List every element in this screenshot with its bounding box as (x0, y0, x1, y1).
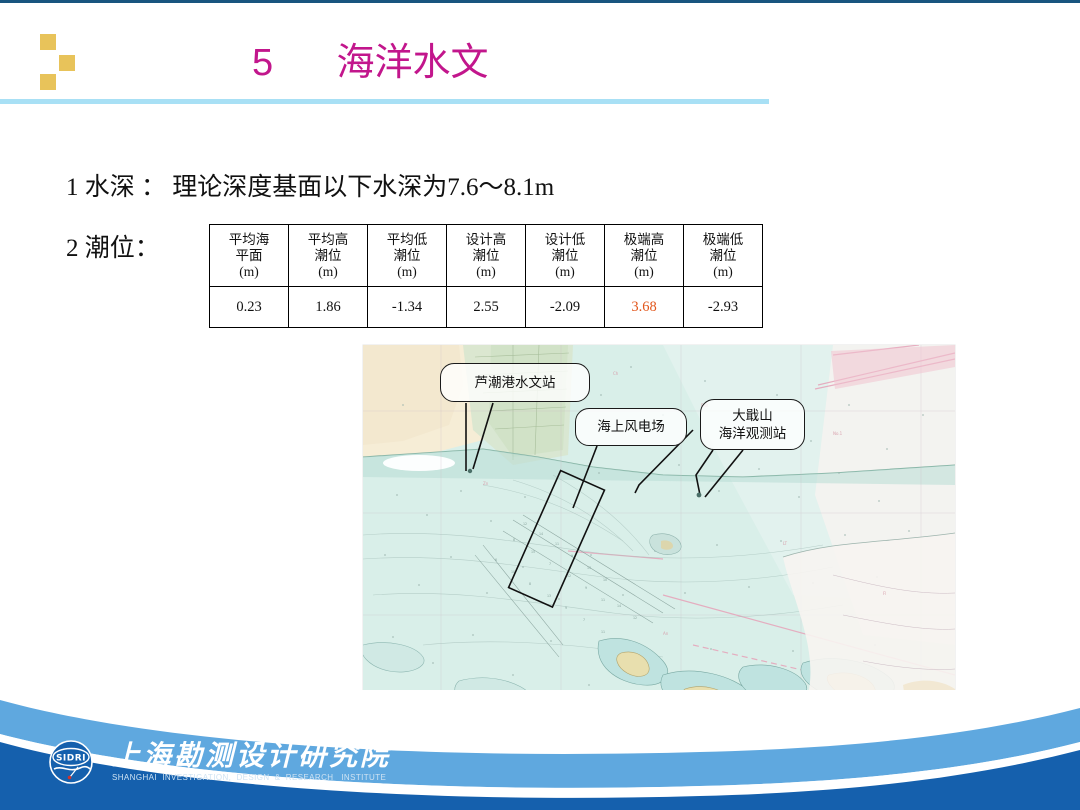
table-header-cell: 平均海 平面 (m) (210, 225, 289, 287)
company-logo: SIDRI 上海勘测设计研究院 SHANGHAI INVESTIGATION, … (40, 740, 391, 784)
header-line: 潮位 (605, 248, 683, 264)
svg-text:No.1: No.1 (833, 431, 843, 436)
svg-text:9: 9 (585, 586, 587, 590)
page-title: 5 海洋水文 (252, 40, 488, 86)
svg-text:Fl: Fl (883, 591, 886, 596)
svg-text:10: 10 (603, 578, 607, 582)
deco-square-2 (59, 55, 75, 71)
svg-text:9: 9 (571, 554, 573, 558)
tide-level-label: 2 潮位： (66, 233, 160, 265)
deco-square-1 (40, 34, 56, 50)
svg-text:13: 13 (547, 594, 551, 598)
header-line: (m) (684, 264, 762, 280)
header-line: 潮位 (447, 248, 525, 264)
header-line: 潮位 (684, 248, 762, 264)
svg-text:14: 14 (539, 532, 543, 536)
water-depth-line: 1 水深 ： 理论深度基面以下水深为7.6～8.1m (66, 172, 554, 204)
company-name-cn: 上海勘测设计研究院 (112, 742, 391, 772)
svg-text:6: 6 (495, 558, 497, 562)
header-line: (m) (447, 264, 525, 280)
header-line: 潮位 (289, 248, 367, 264)
svg-text:An: An (663, 631, 669, 636)
header-line: 潮位 (526, 248, 604, 264)
svg-text:7: 7 (549, 562, 551, 566)
table-row: 0.23 1.86 -1.34 2.55 -2.09 3.68 -2.93 (210, 287, 763, 328)
svg-text:11: 11 (601, 630, 605, 634)
table-cell-value: 0.23 (210, 287, 289, 328)
deco-square-3 (40, 74, 56, 90)
decorative-squares (28, 34, 78, 86)
table-header-cell: 极端高 潮位 (m) (605, 225, 684, 287)
table-header-cell: 平均低 潮位 (m) (368, 225, 447, 287)
callout-offshore-wind-farm: 海上风电场 (575, 408, 687, 446)
table-header-cell: 设计低 潮位 (m) (526, 225, 605, 287)
header-line: 平均低 (368, 232, 446, 248)
svg-text:Zn: Zn (483, 481, 489, 486)
sidri-emblem-svg: SIDRI (40, 740, 102, 784)
table-header-cell: 设计高 潮位 (m) (447, 225, 526, 287)
svg-text:11: 11 (555, 542, 559, 546)
top-border-rule (0, 0, 1080, 3)
table-header-cell: 极端低 潮位 (m) (684, 225, 763, 287)
svg-text:9: 9 (565, 606, 567, 610)
company-name-en: SHANGHAI INVESTIGATION, DESIGN & RESEARC… (112, 772, 391, 783)
header-line: 潮位 (368, 248, 446, 264)
header-line: 极端低 (684, 232, 762, 248)
svg-text:8: 8 (513, 538, 515, 542)
title-underline-rule (0, 99, 769, 104)
callout-line: 芦潮港水文站 (475, 374, 556, 392)
tide-level-table: 平均海 平面 (m) 平均高 潮位 (m) 平均低 潮位 (m) 设计高 潮位 … (209, 224, 763, 328)
sidri-emblem-icon: SIDRI (40, 740, 102, 784)
chart-graphic: 1214 119 1310 815 712 911 610 813 97 118… (363, 345, 955, 725)
header-line: (m) (526, 264, 604, 280)
header-line: 设计高 (447, 232, 525, 248)
header-line: (m) (605, 264, 683, 280)
callout-luchaogang-hydrological-station: 芦潮港水文站 (440, 363, 590, 402)
table-cell-value: -1.34 (368, 287, 447, 328)
header-line: 平均高 (289, 232, 367, 248)
header-line: (m) (210, 264, 288, 280)
table-cell-value-highlighted: 3.68 (605, 287, 684, 328)
header-line: 设计低 (526, 232, 604, 248)
header-line: 平均海 (210, 232, 288, 248)
header-line: 平面 (210, 248, 288, 264)
svg-text:8: 8 (529, 582, 531, 586)
svg-text:SIDRI: SIDRI (56, 754, 86, 764)
table-cell-value: -2.09 (526, 287, 605, 328)
svg-text:12: 12 (523, 522, 527, 526)
nautical-chart-image: 1214 119 1310 815 712 911 610 813 97 118… (363, 345, 955, 725)
callout-line: 海上风电场 (597, 418, 665, 436)
svg-text:14: 14 (617, 604, 621, 608)
svg-text:12: 12 (633, 616, 637, 620)
callout-line: 海洋观测站 (719, 425, 787, 443)
svg-text:15: 15 (531, 550, 535, 554)
table-cell-value: 2.55 (447, 287, 526, 328)
header-line: (m) (368, 264, 446, 280)
table-cell-value: 1.86 (289, 287, 368, 328)
callout-line: 大戢山 (732, 407, 773, 425)
svg-text:Ch: Ch (613, 371, 619, 376)
svg-text:13: 13 (587, 566, 591, 570)
callout-dajishan-marine-observation-station: 大戢山 海洋观测站 (700, 399, 805, 450)
table-header-row: 平均海 平面 (m) 平均高 潮位 (m) 平均低 潮位 (m) 设计高 潮位 … (210, 225, 763, 287)
table-header-cell: 平均高 潮位 (m) (289, 225, 368, 287)
table-cell-value: -2.93 (684, 287, 763, 328)
header-line: 极端高 (605, 232, 683, 248)
svg-text:7: 7 (583, 618, 585, 622)
svg-text:LT: LT (783, 541, 788, 546)
svg-text:11: 11 (601, 598, 605, 602)
header-line: (m) (289, 264, 367, 280)
